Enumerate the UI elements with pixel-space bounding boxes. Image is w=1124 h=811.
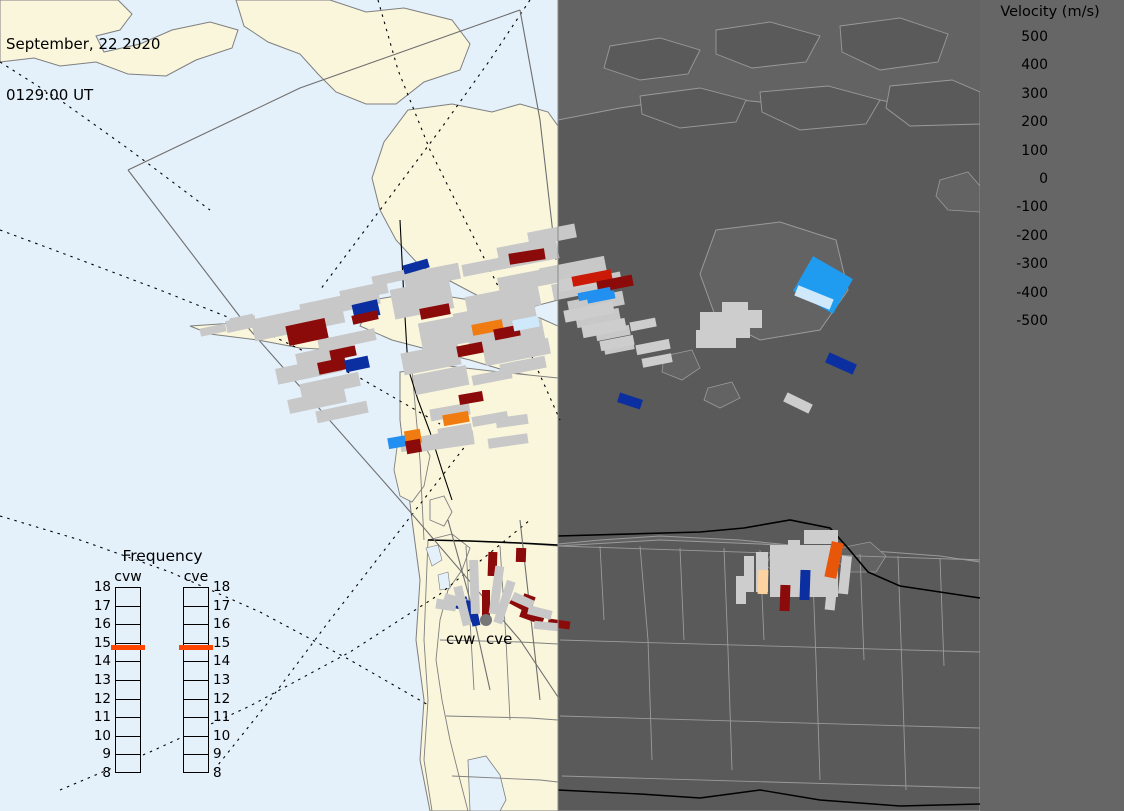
velocity-cell [758,570,769,594]
frequency-cell [116,755,140,774]
frequency-cell [116,607,140,626]
site-label-cve: cve [486,630,512,648]
radar-site-dot [480,614,492,626]
frequency-cell [184,718,208,737]
frequency-tick-label: 9 [91,748,111,762]
time-text: 0129:00 UT [6,87,160,104]
velocity-cell [780,585,791,611]
frequency-legend: Frequency cvw cve 18171615141312111098 1… [95,545,230,785]
frequency-cell [116,718,140,737]
velocity-cell [405,439,422,454]
frequency-tick-label: 16 [213,618,233,632]
frequency-bar-cvw [115,587,141,773]
fan-plot-canvas: September, 22 2020 0129:00 UT cvw cve Fr… [0,0,1124,811]
frequency-cell [116,662,140,681]
frequency-cell [116,737,140,756]
frequency-cell [184,700,208,719]
frequency-marker-cvw [111,645,145,650]
frequency-tick-label: 18 [213,581,233,595]
frequency-tick-label: 9 [213,748,233,762]
night-side-landmasses [558,0,980,811]
frequency-cell [184,588,208,607]
colorbar-tick-label: -400 [994,286,1048,300]
colorbar-tick-label: 500 [994,30,1048,44]
frequency-tick-label: 12 [213,693,233,707]
frequency-tick-label: 17 [213,600,233,614]
frequency-tick-label: 13 [213,674,233,688]
frequency-tick-label: 8 [91,767,111,781]
colorbar-tick-label: 300 [994,87,1048,101]
frequency-tick-label: 15 [91,637,111,651]
frequency-tick-label: 11 [213,711,233,725]
frequency-tick-label: 8 [213,767,233,781]
colorbar-title: Velocity (m/s) [980,4,1120,20]
site-label-cvw: cvw [446,630,475,648]
frequency-cell [184,607,208,626]
frequency-cell [184,625,208,644]
colorbar-tick-label: 400 [994,58,1048,72]
colorbar-tick-label: 200 [994,115,1048,129]
frequency-cell [184,755,208,774]
frequency-cell [116,625,140,644]
frequency-cell [116,681,140,700]
frequency-tick-label: 18 [91,581,111,595]
colorbar-tick-label: -100 [994,200,1048,214]
frequency-cell [116,588,140,607]
frequency-cell [184,737,208,756]
frequency-tick-label: 13 [91,674,111,688]
frequency-tick-label: 14 [91,655,111,669]
frequency-tick-label: 11 [91,711,111,725]
colorbar-tick-label: -200 [994,229,1048,243]
frequency-tick-label: 12 [91,693,111,707]
colorbar-tick-label: 0 [994,172,1048,186]
frequency-tick-label: 10 [91,730,111,744]
frequency-tick-label: 14 [213,655,233,669]
velocity-cell [799,570,810,600]
velocity-cell [516,548,526,562]
frequency-tick-label: 17 [91,600,111,614]
frequency-tick-label: 10 [213,730,233,744]
frequency-bar-cve [183,587,209,773]
freq-bar-name-cvw: cvw [105,569,151,585]
colorbar-tick-label: -500 [994,314,1048,328]
frequency-title: Frequency [95,547,230,565]
frequency-tick-label: 16 [91,618,111,632]
frequency-cell [116,700,140,719]
colorbar-tick-label: -300 [994,257,1048,271]
frequency-cell [184,681,208,700]
timestamp-block: September, 22 2020 0129:00 UT [6,2,160,138]
velocity-colorbar-panel: Velocity (m/s) 5004003002001000-100-200-… [980,0,1124,811]
frequency-tick-label: 15 [213,637,233,651]
colorbar-tick-label: 100 [994,144,1048,158]
date-text: September, 22 2020 [6,36,160,53]
frequency-marker-cve [179,645,213,650]
frequency-cell [184,662,208,681]
